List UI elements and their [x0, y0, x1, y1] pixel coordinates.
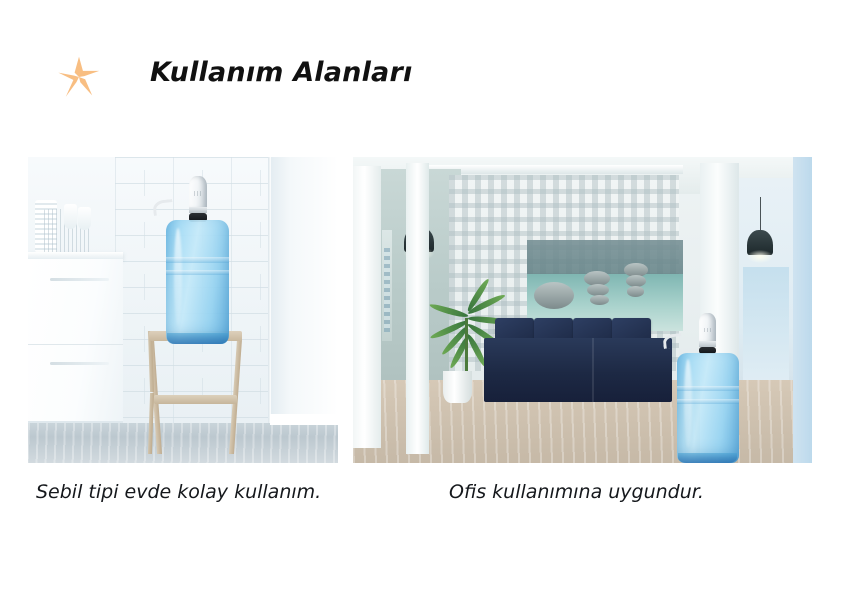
dispenser-pump	[699, 313, 716, 344]
kitchen-cabinet	[28, 259, 123, 421]
bottle-body	[166, 220, 230, 343]
dispenser-spout	[662, 334, 682, 350]
baseboard	[270, 414, 338, 425]
bottle-rib	[166, 257, 230, 263]
hallway-glass-panel	[384, 248, 390, 332]
water-bottle-unit	[677, 310, 739, 463]
dispenser-collar	[699, 341, 716, 347]
sofa-seam	[592, 338, 594, 402]
photo-kitchen-dispenser	[28, 157, 338, 463]
dispenser-pump	[189, 176, 207, 210]
bottle-base	[167, 333, 228, 344]
kitchen-right-wall	[270, 157, 338, 439]
bottle-rib	[677, 399, 739, 404]
slide-page: Kullanım Alanları	[0, 0, 842, 597]
caption-office-use: Ofis kullanımına uygundur.	[449, 481, 704, 503]
cabinet-seam	[28, 344, 123, 345]
bottle-base	[678, 453, 737, 463]
slide-header: Kullanım Alanları	[0, 0, 842, 150]
lamp-glow	[747, 250, 774, 262]
office-column	[406, 163, 429, 454]
artwork-stone-stack	[590, 295, 609, 305]
kitchen-wall-edge	[268, 157, 271, 439]
cup	[78, 207, 91, 230]
caption-home-use: Sebil tipi evde kolay kullanım.	[36, 481, 321, 503]
water-bottle-unit	[166, 172, 230, 343]
photo-office-dispenser	[353, 157, 812, 463]
figure-office-use	[353, 157, 812, 463]
office-column	[353, 166, 381, 448]
figure-home-use	[28, 157, 338, 463]
cup	[64, 204, 77, 228]
cabinet-handle	[50, 362, 109, 365]
cabinet-handle	[50, 278, 109, 281]
dispenser-logo	[704, 328, 711, 332]
bottle-body	[677, 353, 739, 463]
step-stool	[149, 331, 242, 453]
dispenser-collar	[189, 207, 207, 214]
plant-pot	[443, 371, 473, 403]
bottle-rib	[677, 386, 739, 391]
stool-step	[154, 395, 238, 404]
pendant-lamp-cord	[760, 197, 761, 234]
dispenser-logo	[194, 191, 201, 196]
bottle-rib	[166, 270, 230, 276]
office-window-edge	[793, 157, 812, 463]
artwork-stone-stack	[587, 284, 609, 296]
kitchen-countertop	[28, 252, 123, 259]
office-sofa	[484, 338, 672, 402]
page-title: Kullanım Alanları	[150, 57, 412, 88]
artwork-stone-stack	[627, 286, 644, 296]
office-glass-door	[743, 267, 789, 383]
asterisk-icon	[57, 54, 101, 100]
stool-leg	[148, 393, 154, 454]
palm-frond	[429, 302, 469, 319]
